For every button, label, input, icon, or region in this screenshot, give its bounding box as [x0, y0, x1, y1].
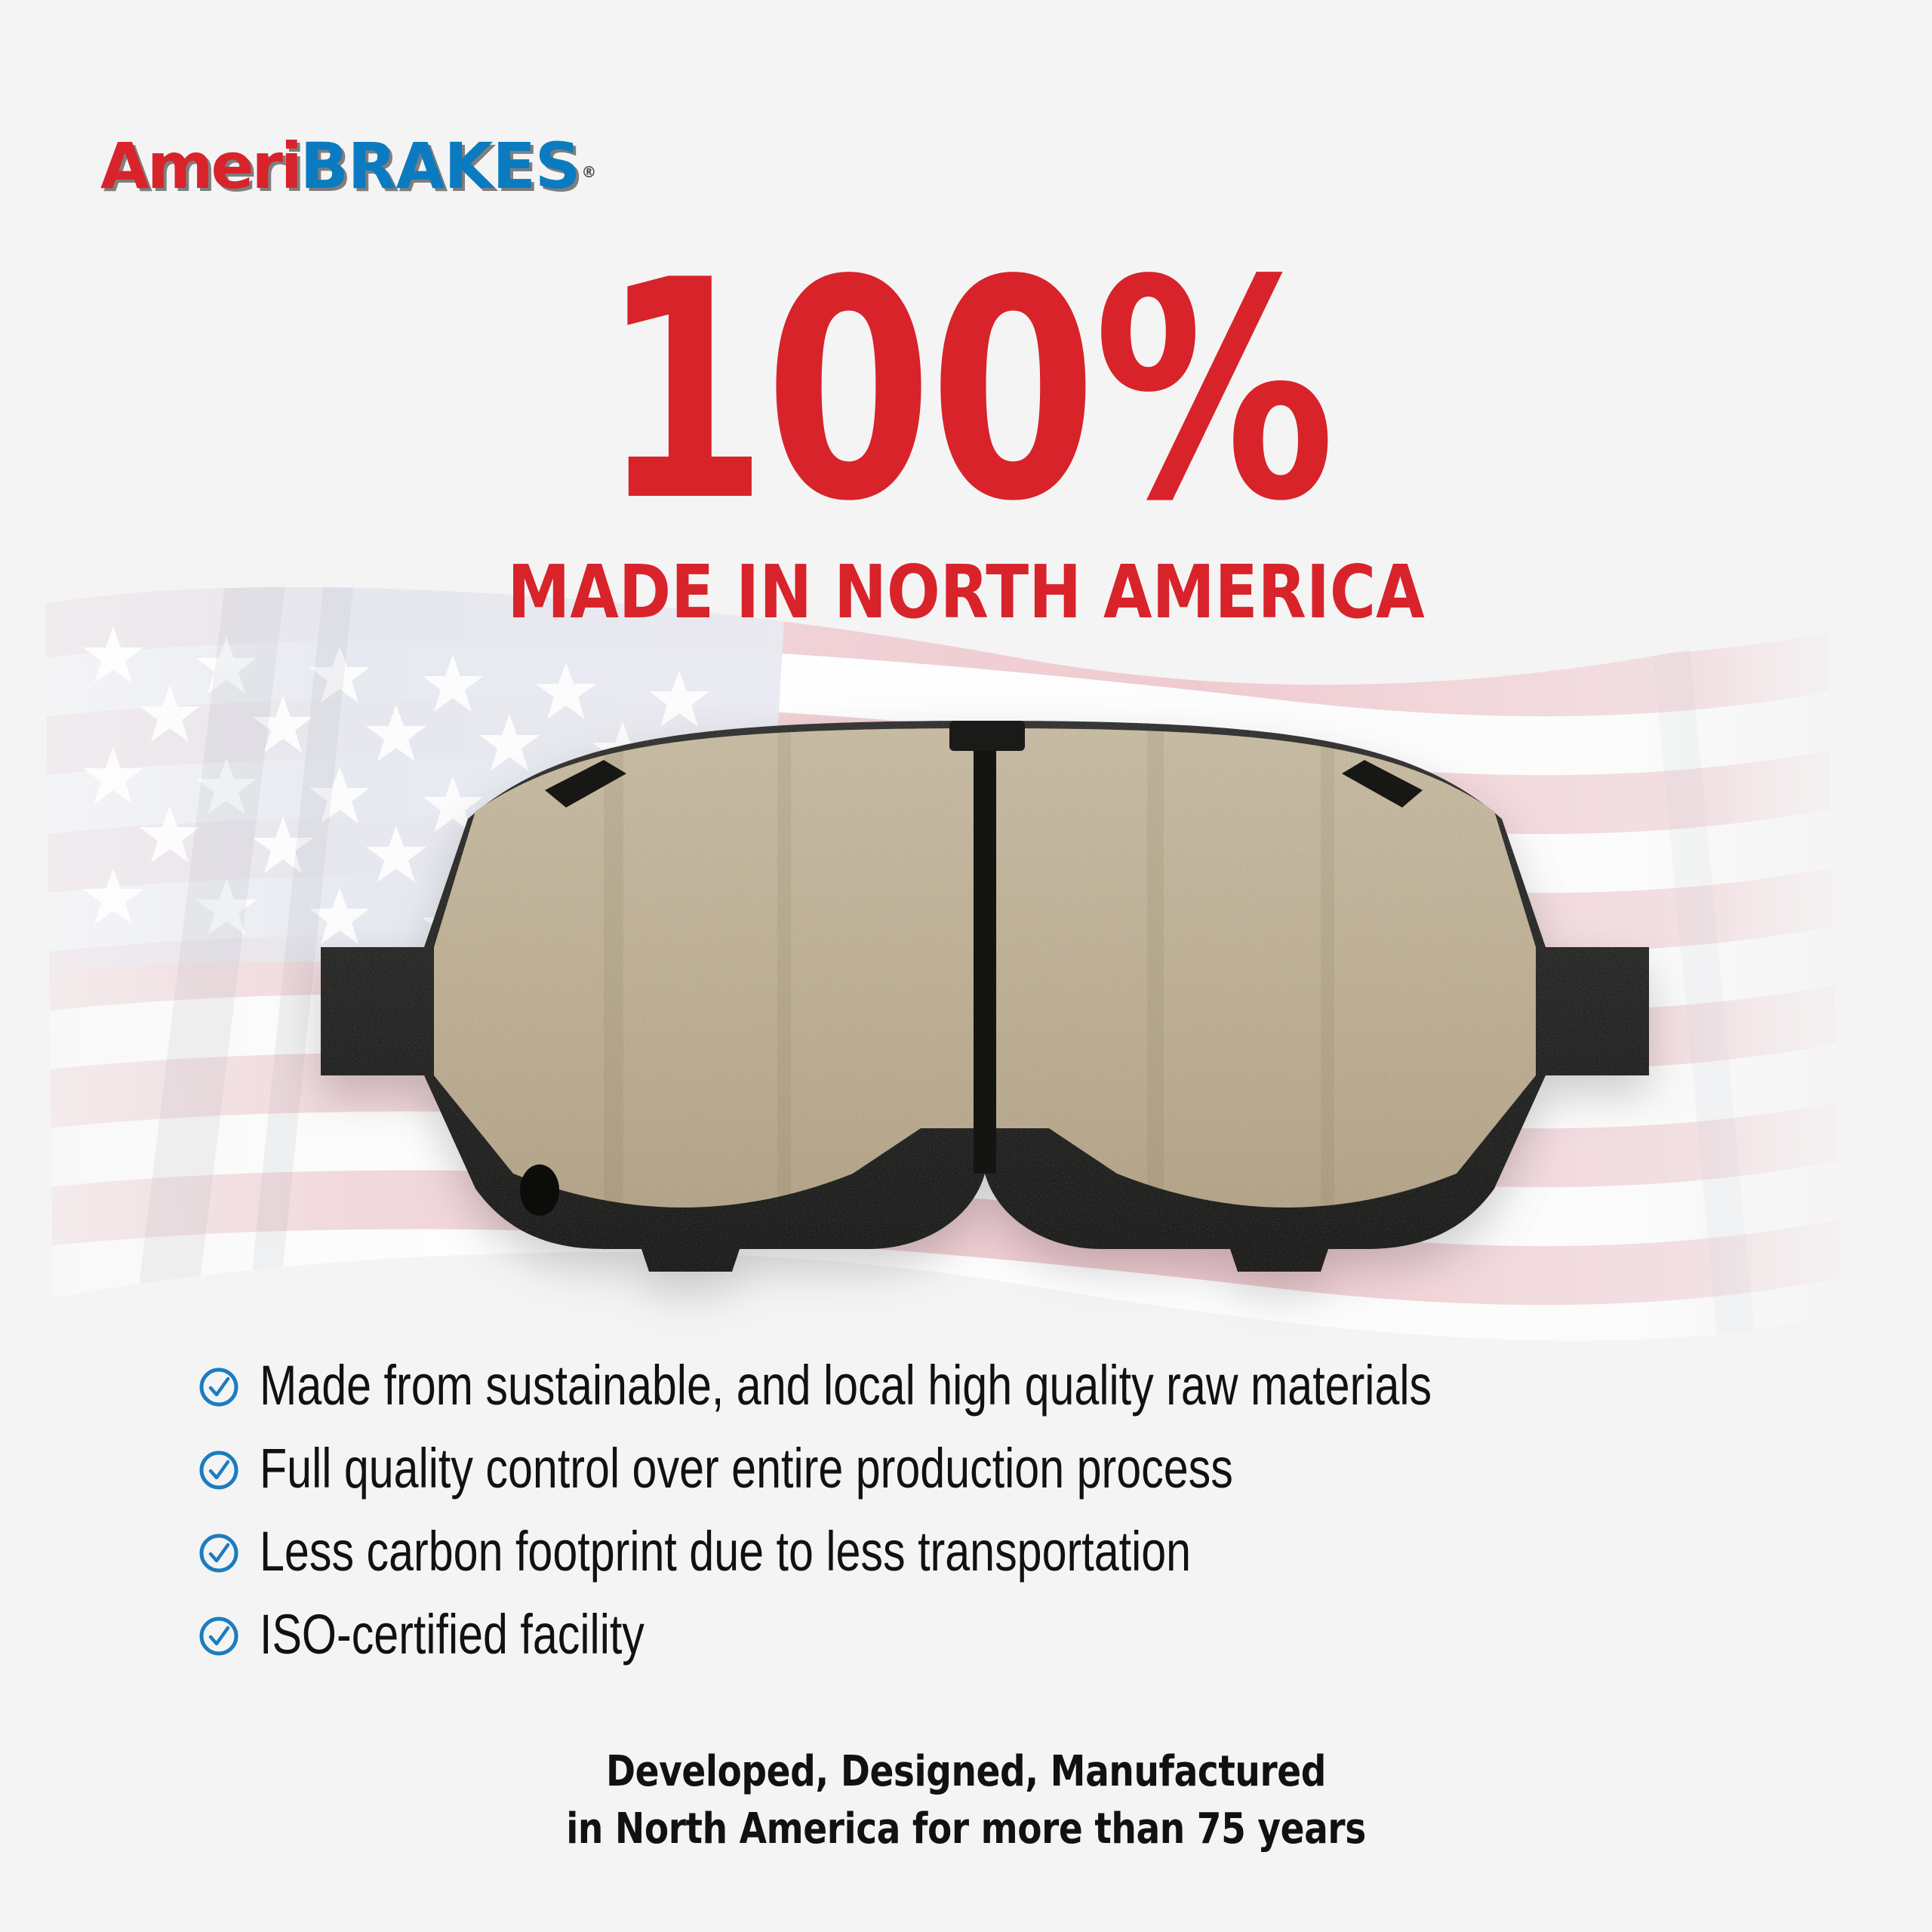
brake-pad-image	[249, 721, 1721, 1279]
headline-block: 100% MADE IN NORTH AMERICA	[0, 249, 1932, 635]
list-item: Made from sustainable, and local high qu…	[198, 1351, 1783, 1420]
list-item-label: Less carbon footprint due to less transp…	[260, 1522, 1191, 1581]
feature-list: Made from sustainable, and local high qu…	[198, 1351, 1783, 1683]
list-item: ISO-certified facility	[198, 1600, 1783, 1669]
ameribrakes-logo: AmeriBRAKES®	[100, 134, 595, 198]
logo-text-ameri: Ameri	[100, 129, 300, 203]
registered-trademark-icon: ®	[581, 163, 595, 181]
list-item: Less carbon footprint due to less transp…	[198, 1517, 1783, 1586]
footer-block: Developed, Designed, Manufactured in Nor…	[0, 1743, 1932, 1857]
footer-line-2: in North America for more than 75 years	[155, 1801, 1777, 1858]
check-circle-icon	[198, 1449, 240, 1491]
footer-line-1: Developed, Designed, Manufactured	[155, 1743, 1777, 1801]
page-title-percent: 100%	[193, 249, 1739, 536]
check-circle-icon	[198, 1366, 240, 1408]
list-item-label: Full quality control over entire product…	[260, 1439, 1233, 1498]
page-subtitle: MADE IN NORTH AMERICA	[135, 549, 1797, 635]
list-item: Full quality control over entire product…	[198, 1434, 1783, 1503]
promo-graphic-canvas: AmeriBRAKES® 100% MADE IN NORTH AMERICA	[0, 0, 1932, 1932]
list-item-label: ISO-certified facility	[260, 1605, 645, 1664]
check-circle-icon	[198, 1615, 240, 1657]
list-item-label: Made from sustainable, and local high qu…	[260, 1356, 1432, 1415]
check-circle-icon	[198, 1532, 240, 1574]
mounting-hole	[520, 1164, 559, 1216]
logo-text-brakes: BRAKES	[300, 129, 580, 203]
